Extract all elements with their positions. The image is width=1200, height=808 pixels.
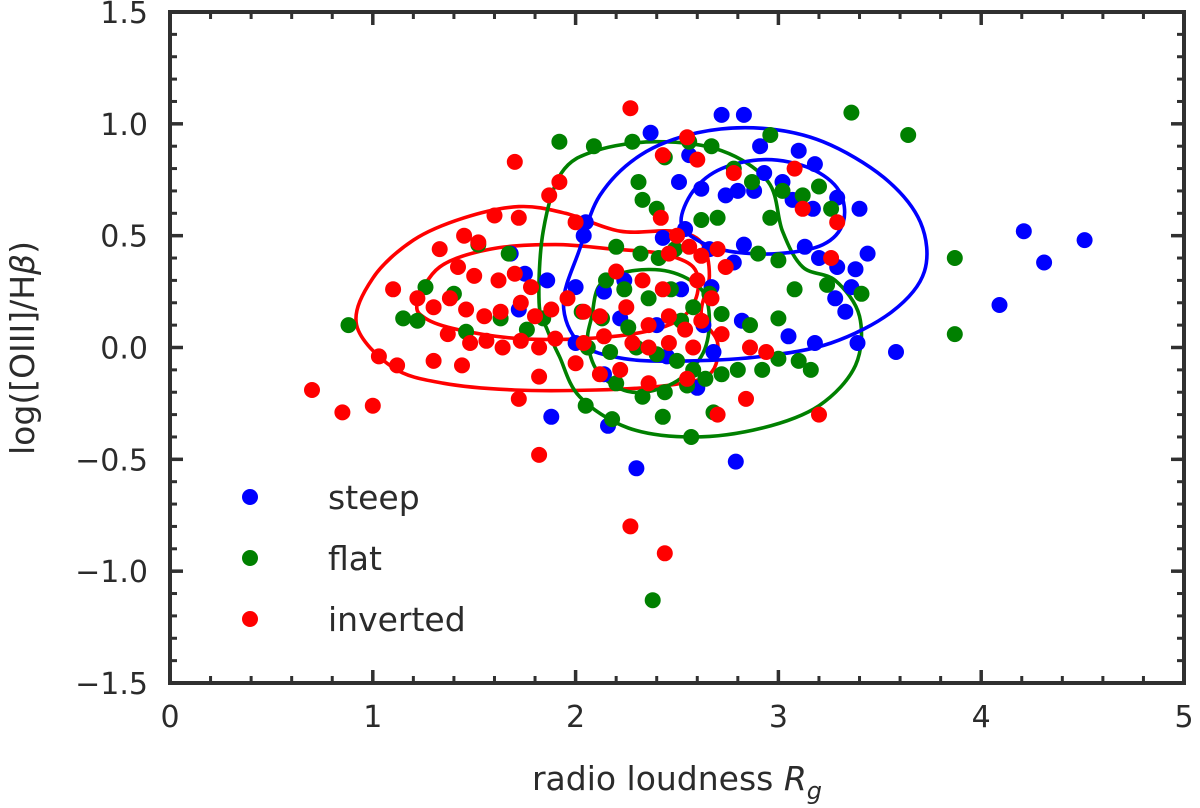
point-inverted [823,250,839,266]
point-flat [762,127,778,143]
point-inverted [493,304,509,320]
point-inverted [738,391,754,407]
point-flat [697,371,713,387]
point-flat [586,138,602,154]
point-inverted [661,246,677,262]
point-inverted [543,302,559,318]
point-inverted [641,340,657,356]
point-inverted [454,357,470,373]
point-inverted [710,241,726,257]
point-flat [624,134,640,150]
point-inverted [495,340,511,356]
point-inverted [478,333,494,349]
legend-label-inverted: inverted [328,600,466,639]
point-inverted [576,335,592,351]
point-steep [543,409,559,425]
point-inverted [551,174,567,190]
point-steep [728,454,744,470]
point-flat [714,366,730,382]
point-inverted [758,344,774,360]
point-inverted [635,272,651,288]
point-inverted [334,404,350,420]
point-flat [775,183,791,199]
point-steep [1036,255,1052,271]
point-inverted [726,165,742,181]
point-flat [604,411,620,427]
x-label-subscript: g [807,777,822,805]
point-steep [1016,223,1032,239]
point-inverted [612,362,628,378]
point-inverted [689,152,705,168]
point-inverted [568,355,584,371]
point-inverted [462,335,478,351]
point-inverted [547,331,563,347]
point-inverted [531,369,547,385]
point-inverted [661,308,677,324]
point-inverted [487,208,503,224]
point-inverted [560,290,576,306]
point-inverted [426,299,442,315]
point-inverted [677,322,693,338]
point-inverted [389,357,405,373]
scatter-plot-figure: 012345−1.5−1.0−0.50.00.51.01.5 radio lou… [0,0,1200,808]
point-flat [900,127,916,143]
point-steep [671,174,687,190]
point-inverted [641,375,657,391]
plot-svg: 012345−1.5−1.0−0.50.00.51.01.5 radio lou… [0,0,1200,808]
point-flat [409,313,425,329]
point-flat [341,317,357,333]
point-steep [781,328,797,344]
figure-background [0,0,1200,808]
point-inverted [568,214,584,230]
point-steep [1077,232,1093,248]
point-flat [602,344,618,360]
point-flat [762,210,778,226]
point-inverted [458,302,474,318]
point-inverted [829,214,845,230]
point-inverted [304,382,320,398]
point-steep [730,183,746,199]
point-inverted [426,353,442,369]
point-steep [797,239,813,255]
point-flat [551,134,567,150]
point-steep [539,272,555,288]
point-flat [947,326,963,342]
point-inverted [641,317,657,333]
point-steep [848,261,864,277]
point-inverted [655,147,671,163]
point-inverted [596,328,612,344]
point-steep [693,181,709,197]
point-inverted [787,161,803,177]
point-flat [787,281,803,297]
y-axis-label: log([OIII]/Hβ) [3,241,42,455]
point-flat [669,353,685,369]
y-tick-label: −1.0 [75,555,148,590]
point-flat [811,179,827,195]
point-flat [704,138,720,154]
legend-marker-steep[interactable] [242,489,258,505]
point-flat [710,210,726,226]
y-tick-label: −1.5 [75,667,148,702]
point-inverted [592,366,608,382]
point-steep [807,156,823,172]
point-steep [714,107,730,123]
point-inverted [622,100,638,116]
point-flat [608,239,624,255]
point-flat [750,246,766,262]
legend-marker-flat[interactable] [242,550,258,566]
point-steep [837,304,853,320]
point-inverted [657,545,673,561]
point-inverted [742,340,758,356]
point-flat [843,105,859,121]
point-inverted [811,407,827,423]
point-flat [655,409,671,425]
point-inverted [669,228,685,244]
point-inverted [470,234,486,250]
point-flat [633,246,649,262]
point-inverted [679,129,695,145]
point-steep [736,107,752,123]
point-inverted [608,264,624,280]
x-tick-label: 2 [566,700,585,735]
x-tick-label: 0 [160,700,179,735]
point-flat [395,310,411,326]
x-tick-label: 1 [363,700,382,735]
point-inverted [450,259,466,275]
point-flat [501,246,517,262]
point-inverted [655,281,671,297]
point-inverted [513,295,529,311]
point-steep [827,290,843,306]
point-steep [850,335,866,351]
point-inverted [541,187,557,203]
point-steep [643,125,659,141]
point-steep [852,201,868,217]
x-tick-label: 3 [769,700,788,735]
point-inverted [704,290,720,306]
point-inverted [710,407,726,423]
point-inverted [440,326,456,342]
point-flat [685,299,701,315]
y-tick-label: 0.5 [100,220,148,255]
point-inverted [456,228,472,244]
y-label-beta: β [3,254,42,276]
point-inverted [592,308,608,324]
point-flat [645,592,661,608]
point-inverted [653,210,669,226]
point-flat [754,362,770,378]
point-inverted [689,272,705,288]
y-tick-label: 0.0 [100,332,148,367]
point-steep [655,230,671,246]
point-inverted [718,259,734,275]
point-inverted [679,371,695,387]
point-inverted [491,272,507,288]
point-inverted [442,290,458,306]
point-inverted [513,333,529,349]
point-inverted [511,210,527,226]
point-flat [744,174,760,190]
point-steep [736,237,752,253]
point-flat [947,250,963,266]
point-flat [854,286,870,302]
point-inverted [531,340,547,356]
point-inverted [476,308,492,324]
point-inverted [531,447,547,463]
legend-marker-inverted[interactable] [242,611,258,627]
point-inverted [622,518,638,534]
point-inverted [618,299,634,315]
point-inverted [527,308,543,324]
point-inverted [714,326,730,342]
point-steep [628,460,644,476]
point-inverted [365,398,381,414]
point-inverted [624,335,640,351]
point-flat [641,290,657,306]
point-flat [770,252,786,268]
point-inverted [523,279,539,295]
x-label-symbol: R [784,759,807,798]
point-flat [620,319,636,335]
y-tick-label: −0.5 [75,443,148,478]
point-flat [631,174,647,190]
point-flat [714,306,730,322]
point-inverted [511,391,527,407]
y-tick-label: 1.5 [100,0,148,31]
point-flat [635,192,651,208]
point-steep [992,297,1008,313]
point-inverted [685,340,701,356]
point-flat [693,212,709,228]
point-steep [576,228,592,244]
point-flat [819,277,835,293]
point-inverted [466,268,482,284]
point-inverted [385,281,401,297]
legend-label-flat: flat [328,539,382,578]
point-steep [807,335,823,351]
point-inverted [507,266,523,282]
point-inverted [795,201,811,217]
point-inverted [576,304,592,320]
point-steep [791,143,807,159]
point-flat [730,362,746,378]
point-inverted [693,313,709,329]
point-steep [888,344,904,360]
point-flat [657,384,673,400]
point-inverted [693,248,709,264]
point-inverted [507,154,523,170]
point-inverted [661,335,677,351]
point-inverted [409,290,425,306]
point-steep [706,344,722,360]
x-tick-label: 4 [972,700,991,735]
point-flat [803,362,819,378]
point-inverted [371,348,387,364]
point-flat [742,317,758,333]
legend-label-steep: steep [328,478,420,517]
point-inverted [432,241,448,257]
y-tick-label: 1.0 [100,108,148,143]
x-tick-label: 5 [1174,700,1193,735]
point-steep [860,246,876,262]
point-flat [683,429,699,445]
point-flat [770,310,786,326]
point-flat [616,281,632,297]
point-flat [578,398,594,414]
